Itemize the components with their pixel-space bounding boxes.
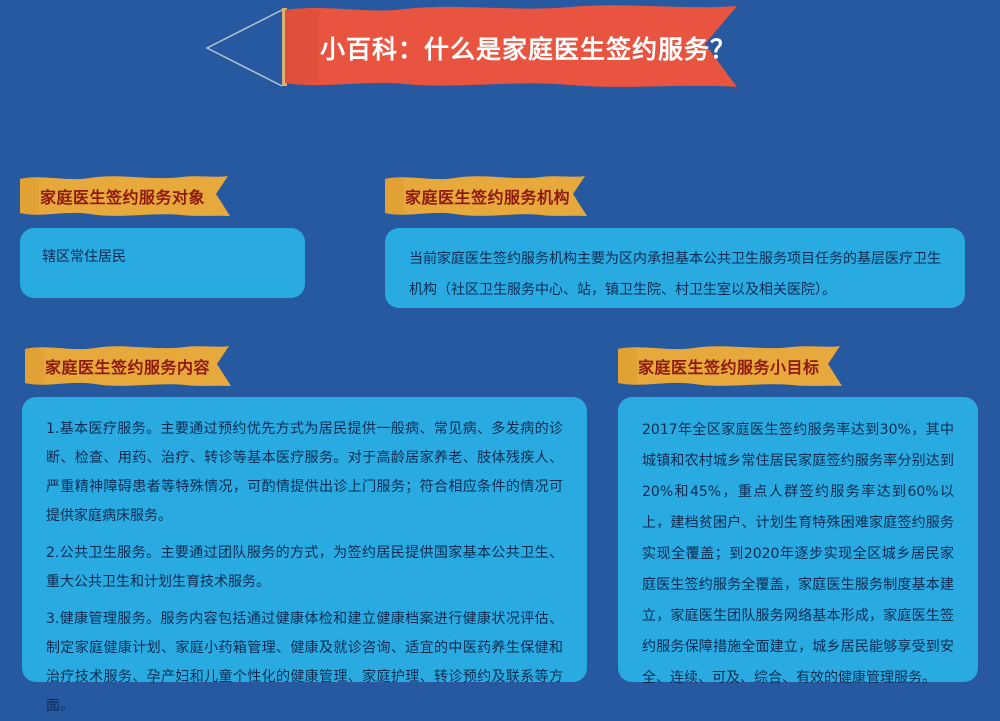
paragraph: 当前家庭医生签约服务机构主要为区内承担基本公共卫生服务项目任务的基层医疗卫生机构… xyxy=(409,244,941,306)
page-title: 小百科：什么是家庭医生签约服务？ xyxy=(320,0,770,95)
paragraph: 1.基本医疗服务。主要通过预约优先方式为居民提供一般病、常见病、多发病的诊断、检… xyxy=(46,415,563,531)
heading-label: 家庭医生签约服务小目标 xyxy=(638,344,820,388)
content-box-service-object: 辖区常住居民 xyxy=(20,228,305,298)
content-box-service-content: 1.基本医疗服务。主要通过预约优先方式为居民提供一般病、常见病、多发病的诊断、检… xyxy=(22,397,587,682)
title-banner: 小百科：什么是家庭医生签约服务？ xyxy=(205,0,795,95)
paragraph: 2017年全区家庭医生签约服务率达到30%，其中城镇和农村城乡常住居民家庭签约服… xyxy=(642,415,954,694)
paragraph: 3.健康管理服务。服务内容包括通过健康体检和建立健康档案进行健康状况评估、制定家… xyxy=(46,605,563,721)
heading-label: 家庭医生签约服务机构 xyxy=(405,174,570,218)
infographic-canvas: 小百科：什么是家庭医生签约服务？ 家庭医生签约服务对象 辖区常住居民 家庭医生签… xyxy=(0,0,1000,700)
content-box-service-organization: 当前家庭医生签约服务机构主要为区内承担基本公共卫生服务项目任务的基层医疗卫生机构… xyxy=(385,228,965,308)
heading-label: 家庭医生签约服务内容 xyxy=(45,344,210,388)
flag-arrow-icon xyxy=(205,8,283,88)
content-box-service-goal: 2017年全区家庭医生签约服务率达到30%，其中城镇和农村城乡常住居民家庭签约服… xyxy=(618,397,978,682)
heading-ribbon-service-goal: 家庭医生签约服务小目标 xyxy=(618,344,866,388)
heading-ribbon-service-organization: 家庭医生签约服务机构 xyxy=(385,174,607,218)
paragraph: 辖区常住居民 xyxy=(42,246,283,268)
paragraph: 2.公共卫生服务。主要通过团队服务的方式，为签约居民提供国家基本公共卫生、重大公… xyxy=(46,539,563,597)
heading-ribbon-service-content: 家庭医生签约服务内容 xyxy=(25,344,253,388)
heading-ribbon-service-object: 家庭医生签约服务对象 xyxy=(20,174,252,218)
heading-label: 家庭医生签约服务对象 xyxy=(40,174,205,218)
